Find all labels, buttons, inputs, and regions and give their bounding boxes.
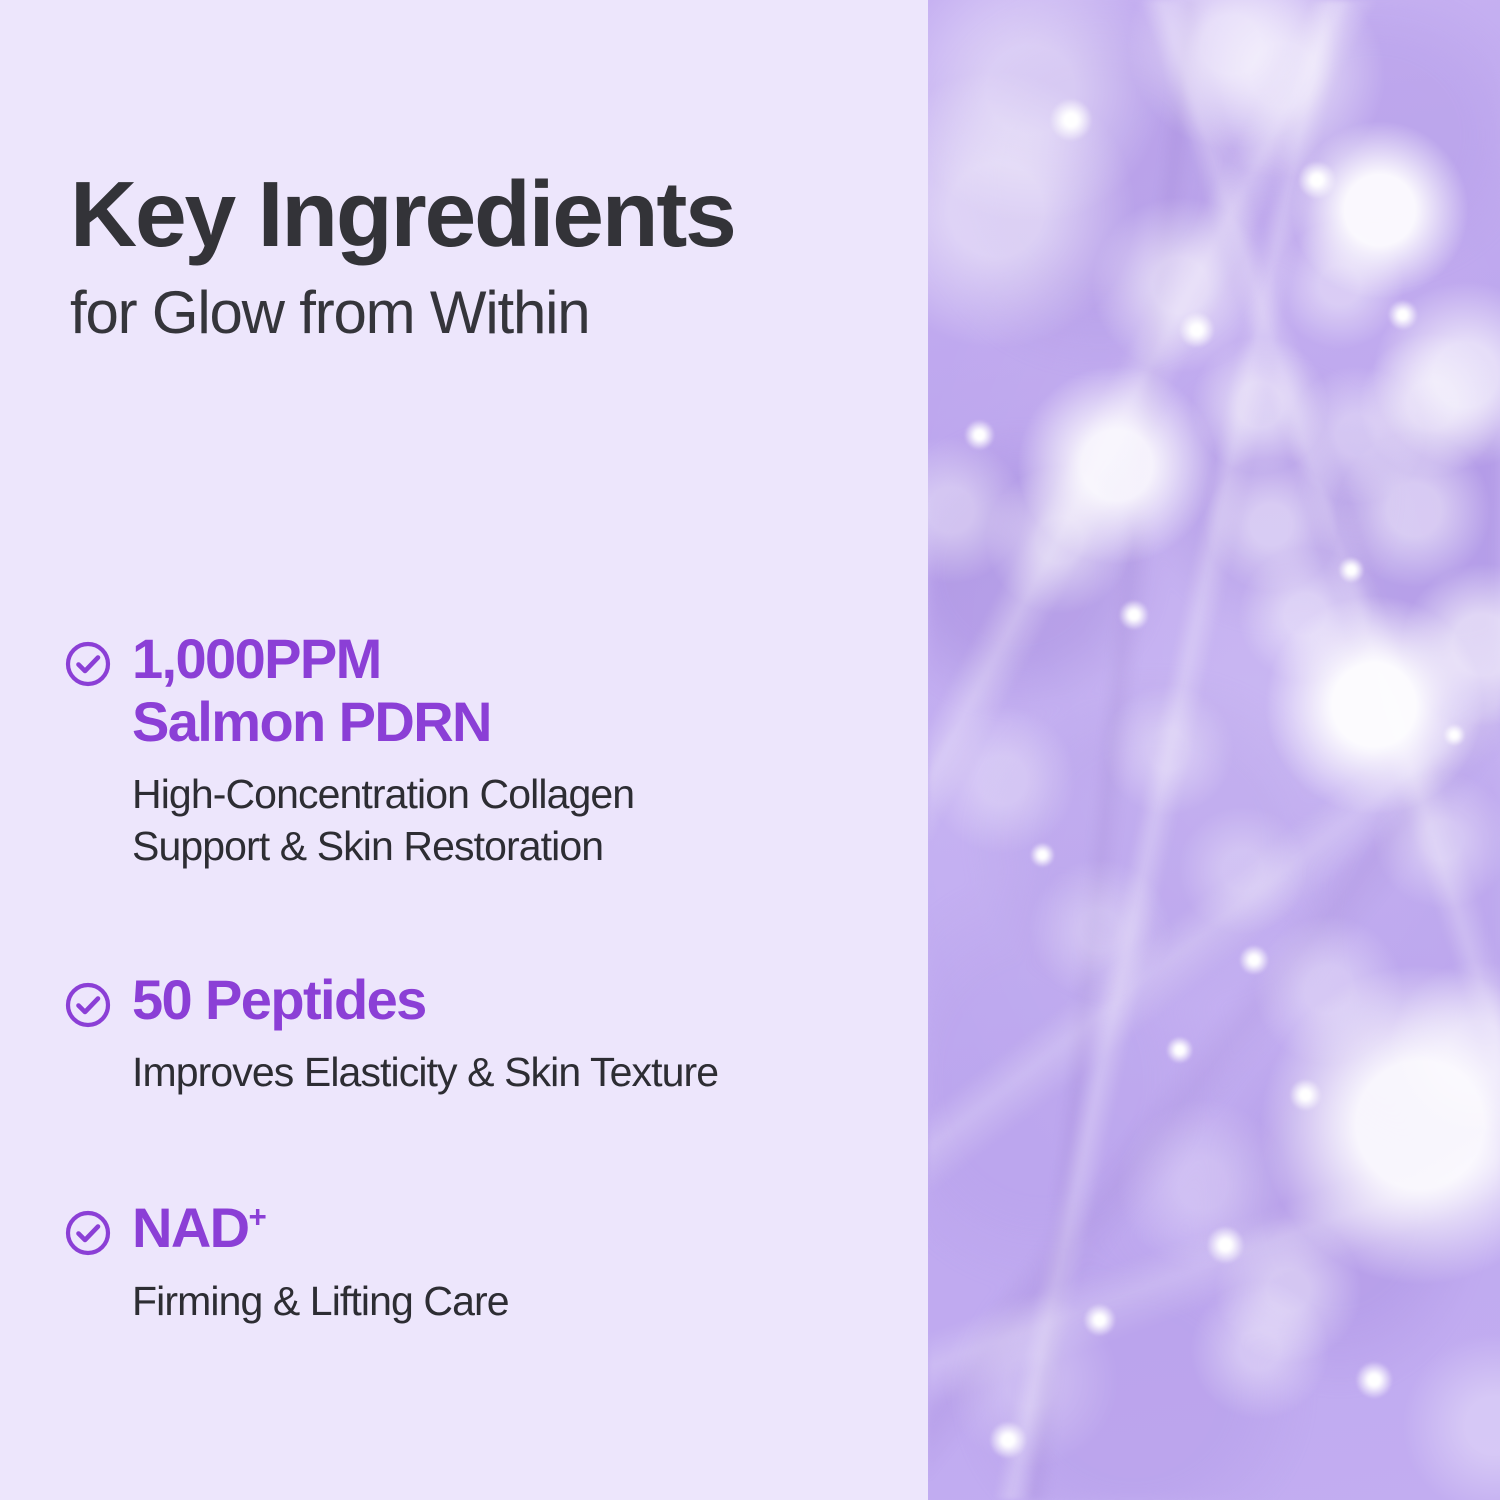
- check-circle-icon: [64, 1209, 112, 1257]
- ingredient-description: Improves Elasticity & Skin Texture: [132, 1047, 904, 1099]
- ingredient-item: NAD+ Firming & Lifting Care: [64, 1197, 904, 1327]
- ingredient-heading-row: NAD+: [64, 1197, 904, 1260]
- gel-texture-image: [928, 0, 1500, 1500]
- ingredient-list: 1,000PPM Salmon PDRN High-Concentration …: [64, 628, 904, 1328]
- ingredient-title-line-1: NAD: [132, 1196, 249, 1259]
- ingredient-title-line-1: 50 Peptides: [132, 969, 426, 1032]
- ingredient-title-superscript: +: [249, 1199, 267, 1234]
- content-panel: Key Ingredients for Glow from Within 1,0…: [0, 0, 928, 1500]
- ingredient-description: High-Concentration Collagen Support & Sk…: [132, 769, 904, 872]
- check-circle-icon: [64, 981, 112, 1029]
- ingredient-heading-row: 1,000PPM Salmon PDRN: [64, 628, 904, 753]
- ingredient-title: 1,000PPM Salmon PDRN: [132, 628, 491, 753]
- ingredient-title-line-1: 1,000PPM: [132, 628, 491, 691]
- ingredient-item: 50 Peptides Improves Elasticity & Skin T…: [64, 969, 904, 1099]
- ingredient-description: Firming & Lifting Care: [132, 1276, 904, 1328]
- gel-haze-layer: [928, 0, 1500, 1500]
- ingredient-desc-line-1: Improves Elasticity & Skin Texture: [132, 1047, 904, 1099]
- page-subtitle: for Glow from Within: [70, 283, 890, 343]
- headline-block: Key Ingredients for Glow from Within: [70, 168, 890, 343]
- ingredient-desc-line-2: Support & Skin Restoration: [132, 821, 904, 873]
- product-detail-panel: Key Ingredients for Glow from Within 1,0…: [0, 0, 1500, 1500]
- check-circle-icon: [64, 640, 112, 688]
- ingredient-title: NAD+: [132, 1197, 267, 1260]
- ingredient-item: 1,000PPM Salmon PDRN High-Concentration …: [64, 628, 904, 873]
- ingredient-desc-line-1: High-Concentration Collagen: [132, 769, 904, 821]
- page-title: Key Ingredients: [70, 168, 890, 261]
- ingredient-title-line-2: Salmon PDRN: [132, 691, 491, 754]
- ingredient-desc-line-1: Firming & Lifting Care: [132, 1276, 904, 1328]
- ingredient-title: 50 Peptides: [132, 969, 426, 1032]
- ingredient-heading-row: 50 Peptides: [64, 969, 904, 1032]
